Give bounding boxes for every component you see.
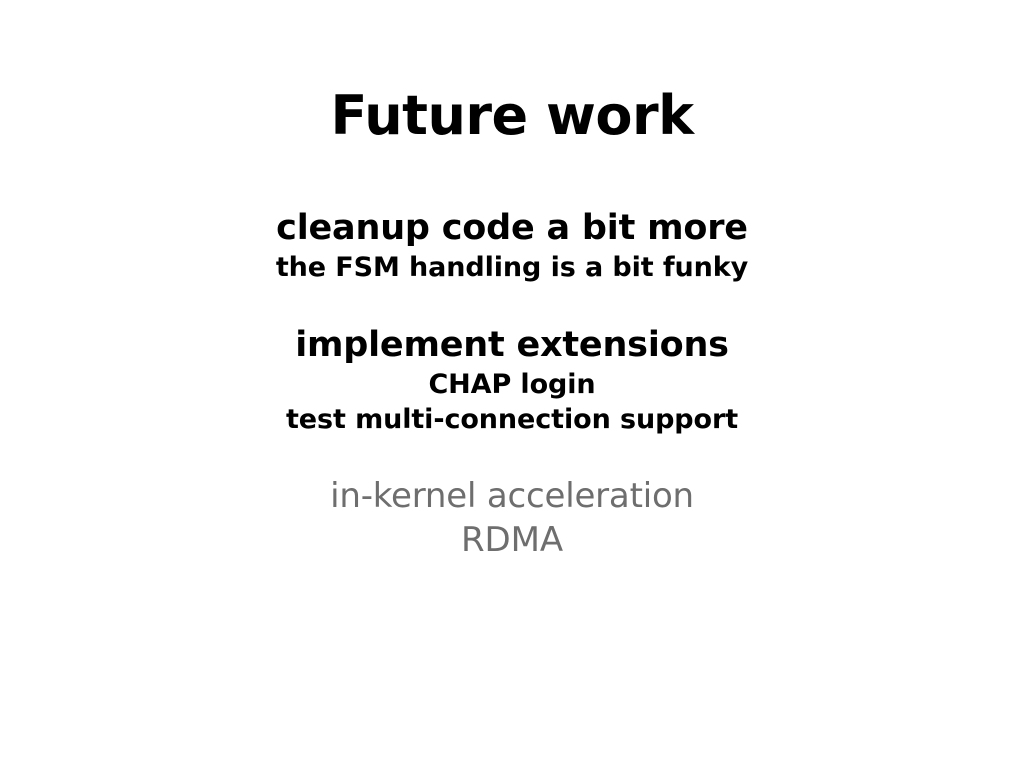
slide-body: cleanup code a bit more the FSM handling… — [0, 206, 1024, 562]
bullet-group-heading: in-kernel acceleration — [0, 475, 1024, 519]
bullet-group-heading: cleanup code a bit more — [0, 206, 1024, 251]
slide-title: Future work — [0, 88, 1024, 145]
bullet-group-extensions: implement extensions CHAP login test mul… — [0, 323, 1024, 437]
presentation-slide: Future work cleanup code a bit more the … — [0, 0, 1024, 768]
bullet-group-acceleration: in-kernel acceleration RDMA — [0, 475, 1024, 562]
bullet-group-heading: implement extensions — [0, 323, 1024, 368]
bullet-group-subline: the FSM handling is a bit funky — [0, 251, 1024, 286]
bullet-group-subline: RDMA — [0, 519, 1024, 563]
bullet-group-subline: CHAP login — [0, 368, 1024, 403]
bullet-group-subline: test multi-connection support — [0, 403, 1024, 438]
bullet-group-cleanup: cleanup code a bit more the FSM handling… — [0, 206, 1024, 285]
